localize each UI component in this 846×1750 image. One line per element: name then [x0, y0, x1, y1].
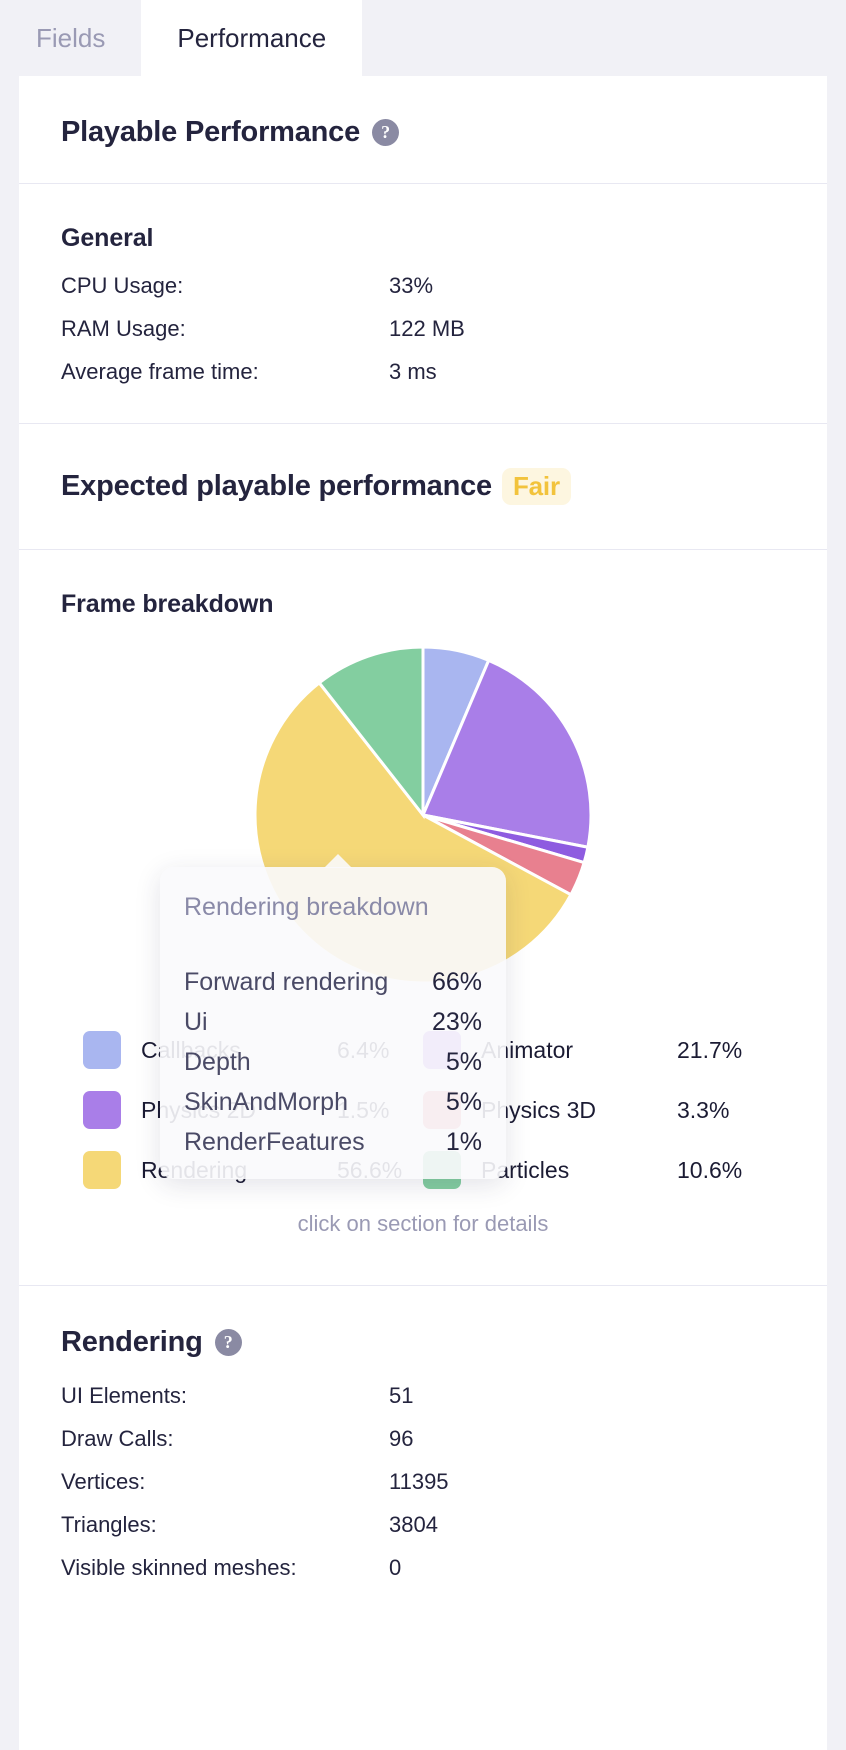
tooltip-label: Ui: [184, 1008, 432, 1037]
frame-breakdown-title: Frame breakdown: [61, 590, 785, 619]
section-expected-performance: Expected playable performance Fair: [19, 424, 827, 550]
stat-row-cpu-usage: CPU Usage: 33%: [61, 273, 785, 299]
page-title-row: Playable Performance ?: [61, 116, 785, 149]
section-rendering: Rendering ? UI Elements: 51 Draw Calls: …: [19, 1286, 827, 1619]
stat-row-triangles: Triangles: 3804: [61, 1512, 785, 1538]
tooltip-row-renderfeatures: RenderFeatures 1%: [184, 1128, 482, 1157]
stat-value: 3804: [389, 1512, 438, 1538]
rendering-title-row: Rendering ?: [61, 1326, 785, 1359]
tab-bar: Fields Performance: [0, 0, 846, 76]
section-general: General CPU Usage: 33% RAM Usage: 122 MB…: [19, 184, 827, 424]
stat-label: Average frame time:: [61, 359, 389, 385]
question-mark-icon[interactable]: ?: [372, 119, 399, 146]
tab-performance[interactable]: Performance: [141, 0, 362, 76]
legend-value: 10.6%: [677, 1157, 742, 1184]
stat-label: UI Elements:: [61, 1383, 389, 1409]
legend-value: 21.7%: [677, 1037, 742, 1064]
tooltip-value: 66%: [432, 968, 482, 997]
performance-panel-page: Fields Performance Playable Performance …: [0, 0, 846, 1750]
stat-row-draw-calls: Draw Calls: 96: [61, 1426, 785, 1452]
stat-label: Vertices:: [61, 1469, 389, 1495]
expected-performance-row: Expected playable performance Fair: [61, 468, 785, 505]
chart-hint: click on section for details: [83, 1211, 763, 1237]
legend-label: Particles: [481, 1157, 677, 1184]
stat-label: RAM Usage:: [61, 316, 389, 342]
stat-value: 11395: [389, 1469, 449, 1495]
legend-swatch-callbacks: [83, 1031, 121, 1069]
tooltip-row-ui: Ui 23%: [184, 1008, 482, 1037]
tooltip-value: 23%: [432, 1008, 482, 1037]
stat-row-vertices: Vertices: 11395: [61, 1469, 785, 1495]
stat-label: Draw Calls:: [61, 1426, 389, 1452]
rendering-title: Rendering: [61, 1326, 203, 1359]
expected-performance-label: Expected playable performance: [61, 470, 492, 503]
stat-value: 122 MB: [389, 316, 465, 342]
tooltip-value: 5%: [446, 1088, 482, 1117]
tooltip-title: Rendering breakdown: [184, 893, 482, 922]
stat-value: 33%: [389, 273, 433, 299]
tooltip-label: Depth: [184, 1048, 446, 1077]
stat-value: 51: [389, 1383, 413, 1409]
legend-label: Animator: [481, 1037, 677, 1064]
status-badge: Fair: [502, 468, 571, 505]
tab-fields[interactable]: Fields: [0, 0, 141, 76]
stat-row-average-frame-time: Average frame time: 3 ms: [61, 359, 785, 385]
legend-swatch-physics-2d: [83, 1091, 121, 1129]
tooltip-value: 5%: [446, 1048, 482, 1077]
tab-performance-label: Performance: [177, 23, 326, 54]
stat-label: Triangles:: [61, 1512, 389, 1538]
stat-label: CPU Usage:: [61, 273, 389, 299]
stat-value: 3 ms: [389, 359, 437, 385]
legend-swatch-rendering: [83, 1151, 121, 1189]
stat-row-ram-usage: RAM Usage: 122 MB: [61, 316, 785, 342]
section-playable-performance: Playable Performance ?: [19, 76, 827, 184]
stat-label: Visible skinned meshes:: [61, 1555, 389, 1581]
tooltip-label: RenderFeatures: [184, 1128, 446, 1157]
stat-value: 0: [389, 1555, 401, 1581]
stat-value: 96: [389, 1426, 413, 1452]
tooltip-value: 1%: [446, 1128, 482, 1157]
tooltip-label: SkinAndMorph: [184, 1088, 446, 1117]
general-title: General: [61, 224, 785, 253]
tooltip-label: Forward rendering: [184, 968, 432, 997]
stat-row-visible-skinned-meshes: Visible skinned meshes: 0: [61, 1555, 785, 1581]
tooltip-row-forward-rendering: Forward rendering 66%: [184, 968, 482, 997]
tooltip-row-skinandmorph: SkinAndMorph 5%: [184, 1088, 482, 1117]
legend-value: 3.3%: [677, 1097, 729, 1124]
tab-fields-label: Fields: [36, 23, 105, 54]
rendering-breakdown-tooltip: Rendering breakdown Forward rendering 66…: [160, 867, 506, 1179]
stat-row-ui-elements: UI Elements: 51: [61, 1383, 785, 1409]
page-title: Playable Performance: [61, 116, 360, 149]
legend-label: Physics 3D: [481, 1097, 677, 1124]
tab-bar-spacer: [362, 0, 846, 76]
tooltip-row-depth: Depth 5%: [184, 1048, 482, 1077]
question-mark-icon[interactable]: ?: [215, 1329, 242, 1356]
